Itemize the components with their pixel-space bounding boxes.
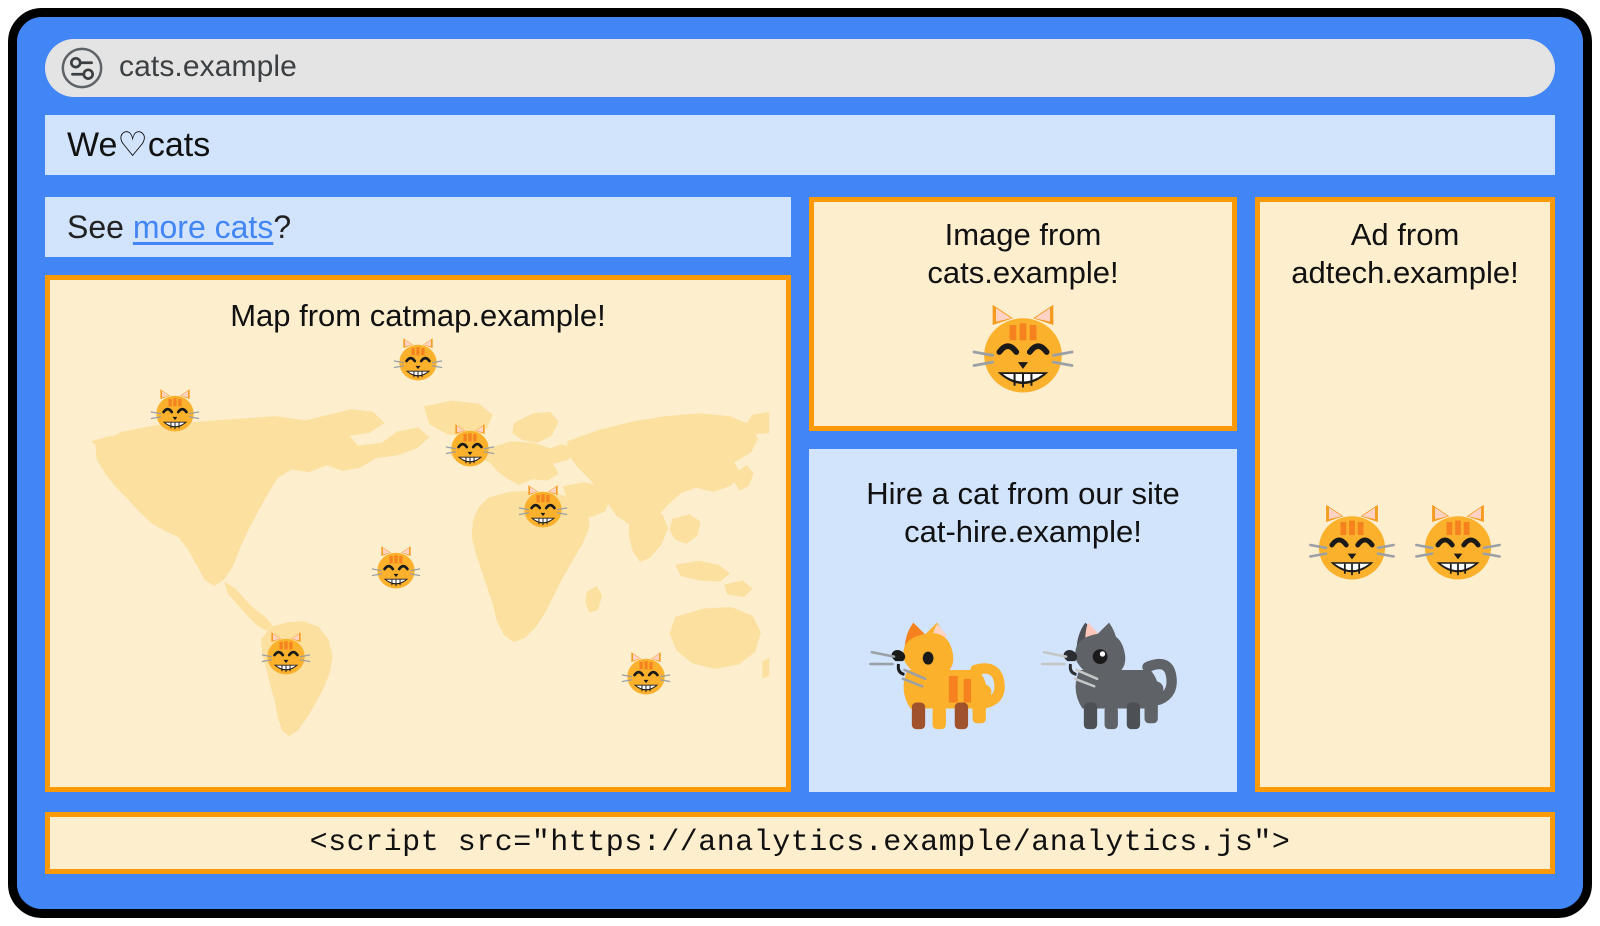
ad-panel-title-line2: adtech.example! [1291, 254, 1518, 292]
left-column: See more cats? Map from catmap.example! [45, 197, 791, 792]
orange-cat-icon [863, 593, 1011, 741]
analytics-script-text: <script src="https://analytics.example/a… [310, 828, 1291, 858]
grinning-cat-face-icon [444, 421, 496, 473]
middle-column: Image from cats.example! [809, 197, 1237, 792]
analytics-script-panel: <script src="https://analytics.example/a… [45, 812, 1555, 874]
map-embed-panel[interactable]: Map from catmap.example! [45, 275, 791, 792]
image-panel-title-line1: Image from [945, 216, 1102, 254]
link-prefix-text: See [67, 209, 133, 245]
page-heading-banner: We ♡ cats [45, 115, 1555, 175]
map-panel-title: Map from catmap.example! [50, 298, 786, 334]
hire-cat-illustrations [863, 593, 1183, 741]
grinning-cat-face-icon [392, 335, 444, 387]
page-content-region: See more cats? Map from catmap.example! [45, 197, 1555, 792]
browser-viewport: cats.example We ♡ cats See more cats? Ma… [17, 17, 1583, 909]
link-suffix-text: ? [273, 209, 291, 245]
image-embed-panel[interactable]: Image from cats.example! [809, 197, 1237, 431]
image-panel-title-line2: cats.example! [927, 254, 1118, 292]
grinning-cat-face-icon [1306, 499, 1398, 591]
hire-cat-embed-panel[interactable]: Hire a cat from our site cat-hire.exampl… [809, 449, 1237, 792]
url-input-value[interactable]: cats.example [119, 52, 297, 84]
grinning-cat-face-icon [517, 482, 569, 534]
grinning-cat-face-icon [969, 298, 1077, 406]
url-bar[interactable]: cats.example [45, 39, 1555, 97]
page-title-suffix: cats [148, 128, 210, 162]
browser-window-frame: cats.example We ♡ cats See more cats? Ma… [8, 8, 1592, 918]
tune-sliders-icon[interactable] [59, 45, 105, 91]
hire-panel-title-line2: cat-hire.example! [904, 513, 1142, 551]
ad-panel-title-line1: Ad from [1351, 216, 1460, 254]
grinning-cat-face-icon [370, 543, 422, 595]
more-cats-link[interactable]: more cats [133, 209, 273, 245]
more-cats-link-box: See more cats? [45, 197, 791, 257]
grey-cat-icon [1035, 593, 1183, 741]
grinning-cat-face-icon [1412, 499, 1504, 591]
grinning-cat-face-icon [149, 386, 201, 438]
heart-outline-icon: ♡ [117, 128, 147, 162]
grinning-cat-face-icon [620, 649, 672, 701]
right-column: Ad from adtech.example! [1255, 197, 1555, 792]
ad-embed-panel[interactable]: Ad from adtech.example! [1255, 197, 1555, 792]
page-title-prefix: We [67, 128, 117, 162]
ad-cat-illustrations [1306, 499, 1504, 591]
hire-panel-title-line1: Hire a cat from our site [866, 475, 1180, 513]
grinning-cat-face-icon [260, 629, 312, 681]
